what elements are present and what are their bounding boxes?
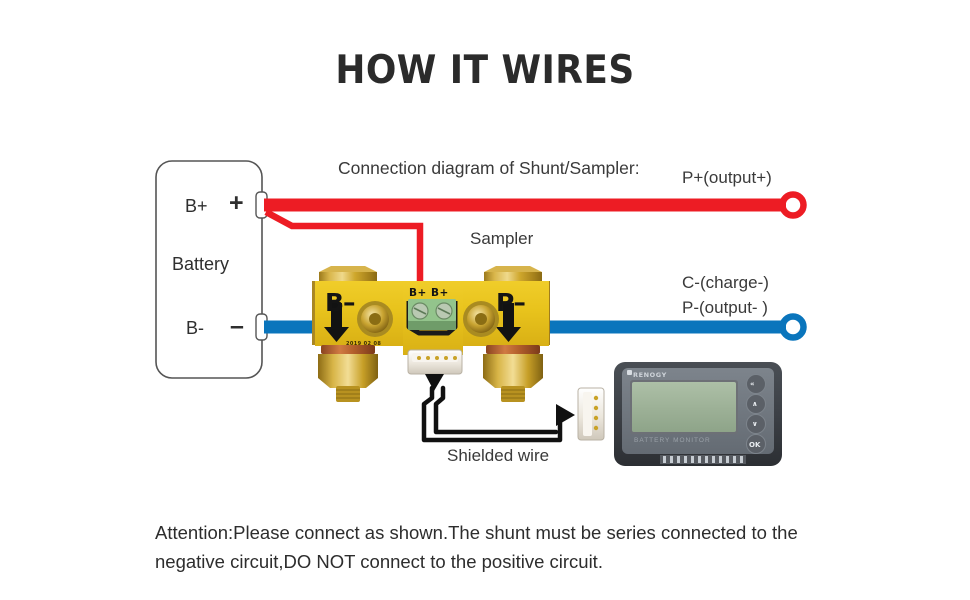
p-minus-ring-terminal [783,317,804,338]
renogy-logo-icon [627,370,632,375]
shunt-right-silkscreen: P– [496,288,525,317]
terminal-block-label: B+ B+ [409,287,449,299]
sampler-terminal-block [408,299,456,330]
monitor-cable-connector [578,388,604,440]
charge-negative-label: C-(charge-) [682,273,769,293]
diagram-graphics [0,0,970,600]
battery-positive-sign: + [229,189,244,218]
shunt-left-silkscreen: B– [325,288,355,317]
battery-positive-code: B+ [185,196,208,217]
shunt-left-nut [318,354,378,402]
output-negative-label: P-(output- ) [682,298,768,318]
monitor-caption: BATTERY MONITOR [634,437,711,444]
sampler-label: Sampler [470,229,533,249]
wiring-diagram: Connection diagram of Shunt/Sampler: Sam… [0,0,970,600]
battery-negative-code: B- [186,318,204,339]
output-positive-label: P+(output+) [682,168,772,188]
shielded-wire-arrow-right-icon [556,404,575,426]
monitor-brand-text: RENOGY [633,371,667,379]
shielded-wire-label: Shielded wire [447,446,549,466]
down-chevron-icon[interactable]: ∨ [752,420,758,428]
up-chevron-icon[interactable]: ∧ [752,400,758,408]
shunt-right-nut [483,354,543,402]
shunt-left-bolt [357,301,393,337]
battery-negative-sign: – [230,312,244,341]
attention-note: Attention:Please connect as shown.The sh… [155,518,855,576]
p-plus-ring-terminal [783,195,804,216]
shunt-date-code: 2019 02 08 [346,341,381,347]
ok-button-icon[interactable]: OK [749,441,760,449]
shunt-right-bolt [463,301,499,337]
diagram-heading: Connection diagram of Shunt/Sampler: [338,158,640,179]
back-button-icon[interactable]: « [750,380,755,388]
monitor-lcd-screen [632,382,736,432]
battery-name: Battery [172,254,229,275]
shunt-signal-connector [408,350,462,374]
